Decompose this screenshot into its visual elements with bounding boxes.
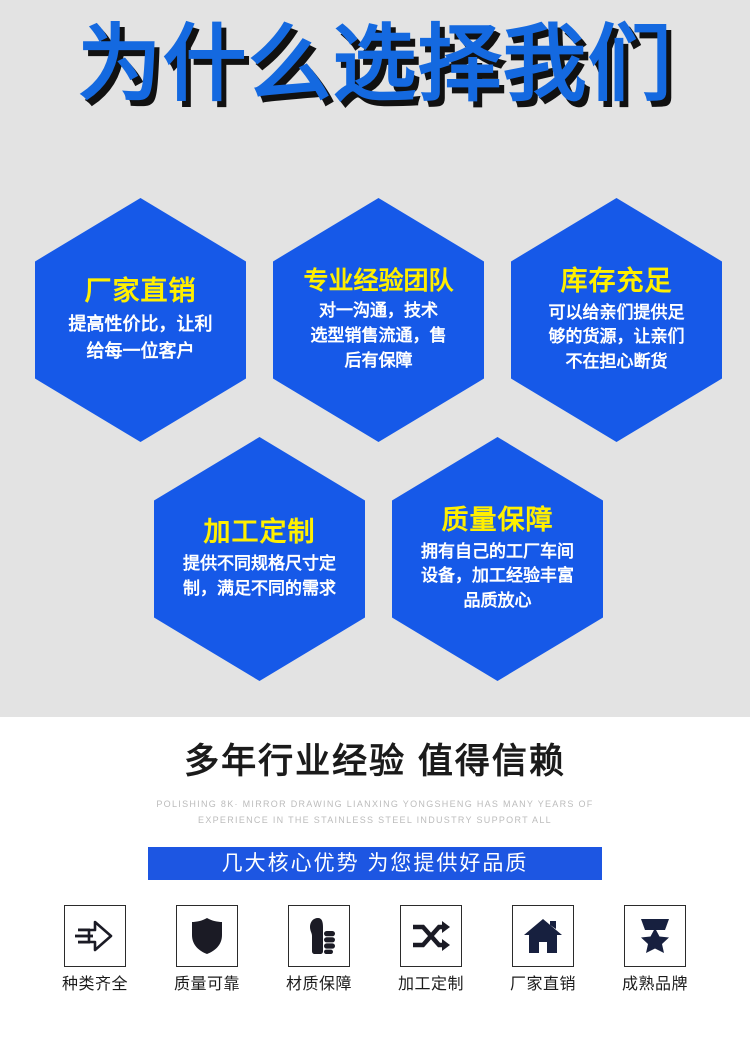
feature-item-mature-brand: 成熟品牌 [612,905,698,993]
hexagon-body: 拥有自己的工厂车间 设备，加工经验丰富 品质放心 [421,540,574,614]
award-ribbon-icon [638,917,672,955]
icon-frame [400,905,462,967]
hexagon-body-line: 品质放心 [421,589,574,614]
hexagon-card-sufficient-stock: 库存充足 可以给亲们提供足 够的货源，让亲们 不在担心断货 [511,198,722,442]
hexagon-body: 可以给亲们提供足 够的货源，让亲们 不在担心断货 [549,301,685,375]
shuffle-icon [411,919,451,953]
feature-label: 种类齐全 [62,977,128,993]
feature-label: 材质保障 [286,977,352,993]
english-tagline-line: POLISHING 8K· MIRROR DRAWING LIANXING YO… [0,796,750,812]
hexagon-body-line: 制，满足不同的需求 [183,577,336,602]
hexagon-body-line: 不在担心断货 [549,350,685,375]
why-choose-us-section: 为什么选择我们 厂家直销 提高性价比，让利 给每一位客户 专业经验团队 对一沟通… [0,0,750,717]
hexagon-body-line: 选型销售流通，售 [311,324,447,349]
hexagon-body-line: 提高性价比，让利 [69,311,213,337]
hexagon-body-line: 可以给亲们提供足 [549,301,685,326]
hexagon-body: 对一沟通，技术 选型销售流通，售 后有保障 [311,299,447,373]
hexagon-title: 质量保障 [442,505,554,536]
icon-frame [64,905,126,967]
hexagon-body-line: 后有保障 [311,349,447,374]
english-tagline-line: EXPERIENCE IN THE STAINLESS STEEL INDUST… [0,812,750,828]
hexagon-body-line: 设备，加工经验丰富 [421,564,574,589]
promo-page: 为什么选择我们 厂家直销 提高性价比，让利 给每一位客户 专业经验团队 对一沟通… [0,0,750,1045]
hexagon-grid: 厂家直销 提高性价比，让利 给每一位客户 专业经验团队 对一沟通，技术 选型销售… [0,0,750,717]
hexagon-body-line: 拥有自己的工厂车间 [421,540,574,565]
hexagon-body: 提供不同规格尺寸定 制，满足不同的需求 [183,552,336,601]
feature-icon-row: 种类齐全 质量可靠 [52,905,698,993]
icon-frame [512,905,574,967]
hexagon-body-line: 提供不同规格尺寸定 [183,552,336,577]
feature-label: 成熟品牌 [622,977,688,993]
hexagon-card-factory-direct-sales: 厂家直销 提高性价比，让利 给每一位客户 [35,198,246,442]
hexagon-content: 厂家直销 提高性价比，让利 给每一位客户 [35,198,246,442]
section-subtitle: 多年行业经验 值得信赖 [0,744,750,779]
thumbs-up-icon [300,917,338,955]
hexagon-card-custom-processing: 加工定制 提供不同规格尺寸定 制，满足不同的需求 [154,437,365,681]
icon-frame [288,905,350,967]
hexagon-card-professional-team: 专业经验团队 对一沟通，技术 选型销售流通，售 后有保障 [273,198,484,442]
hexagon-content: 专业经验团队 对一沟通，技术 选型销售流通，售 后有保障 [273,198,484,442]
feature-item-material-guarantee: 材质保障 [276,905,362,993]
hexagon-content: 加工定制 提供不同规格尺寸定 制，满足不同的需求 [154,437,365,681]
feature-item-factory-direct: 厂家直销 [500,905,586,993]
icon-frame [624,905,686,967]
house-icon [524,918,562,954]
shield-icon [190,917,224,955]
feature-item-custom-processing: 加工定制 [388,905,474,993]
hexagon-body-line: 够的货源，让亲们 [549,325,685,350]
feature-item-reliable-quality: 质量可靠 [164,905,250,993]
hexagon-card-quality-guarantee: 质量保障 拥有自己的工厂车间 设备，加工经验丰富 品质放心 [392,437,603,681]
hexagon-content: 库存充足 可以给亲们提供足 够的货源，让亲们 不在担心断货 [511,198,722,442]
experience-section: 多年行业经验 值得信赖 POLISHING 8K· MIRROR DRAWING… [0,717,750,1045]
feature-label: 质量可靠 [174,977,240,993]
core-advantages-banner-text: 几大核心优势 为您提供好品质 [222,853,529,874]
hexagon-title: 专业经验团队 [303,267,453,296]
hexagon-body-line: 对一沟通，技术 [311,299,447,324]
icon-frame [176,905,238,967]
hexagon-content: 质量保障 拥有自己的工厂车间 设备，加工经验丰富 品质放心 [392,437,603,681]
english-tagline: POLISHING 8K· MIRROR DRAWING LIANXING YO… [0,796,750,828]
arrow-right-speed-icon [75,919,115,953]
hexagon-title: 库存充足 [561,266,673,297]
hexagon-title: 厂家直销 [85,276,197,307]
hexagon-body-line: 给每一位客户 [69,338,213,364]
hexagon-title: 加工定制 [204,517,316,548]
feature-label: 厂家直销 [510,977,576,993]
feature-label: 加工定制 [398,977,464,993]
hexagon-body: 提高性价比，让利 给每一位客户 [69,311,213,363]
feature-item-variety: 种类齐全 [52,905,138,993]
core-advantages-banner: 几大核心优势 为您提供好品质 [148,847,602,880]
